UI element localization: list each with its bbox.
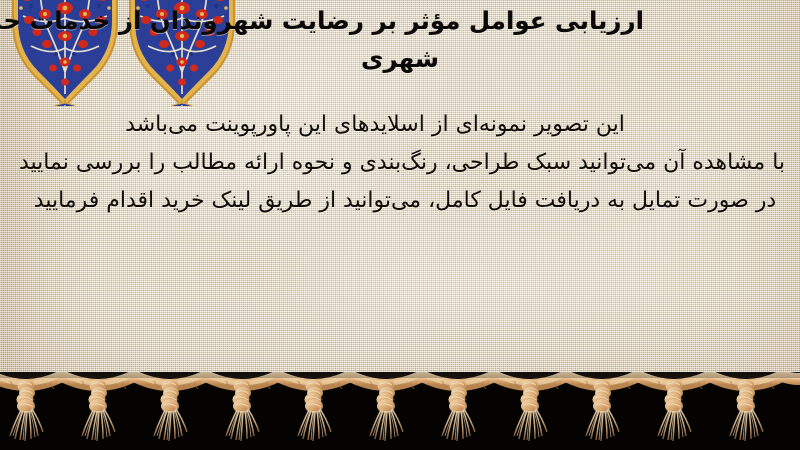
body-line-3: در صورت تمایل به دریافت فایل کامل، می‌تو…	[10, 182, 800, 220]
bottom-fringe-border	[0, 372, 800, 450]
body-line-1: این تصویر نمونه‌ای از اسلایدهای این پاور…	[10, 106, 800, 144]
body-line-2: با مشاهده آن می‌توانید سبک طراحی، رنگ‌بن…	[10, 144, 800, 182]
slide-title-line-1: ارزیابی عوامل مؤثر بر رضایت شهروندان از …	[8, 2, 792, 40]
fringe-top-shadow	[0, 372, 800, 378]
slide-title-line-2: شهری	[8, 40, 792, 78]
tassel-row	[10, 380, 763, 442]
slide-canvas: ارزیابی عوامل مؤثر بر رضایت شهروندان از …	[0, 0, 800, 450]
slide-title: ارزیابی عوامل مؤثر بر رضایت شهروندان از …	[8, 2, 792, 78]
tassel-fringe-svg	[0, 372, 800, 450]
slide-body: این تصویر نمونه‌ای از اسلایدهای این پاور…	[10, 106, 800, 220]
